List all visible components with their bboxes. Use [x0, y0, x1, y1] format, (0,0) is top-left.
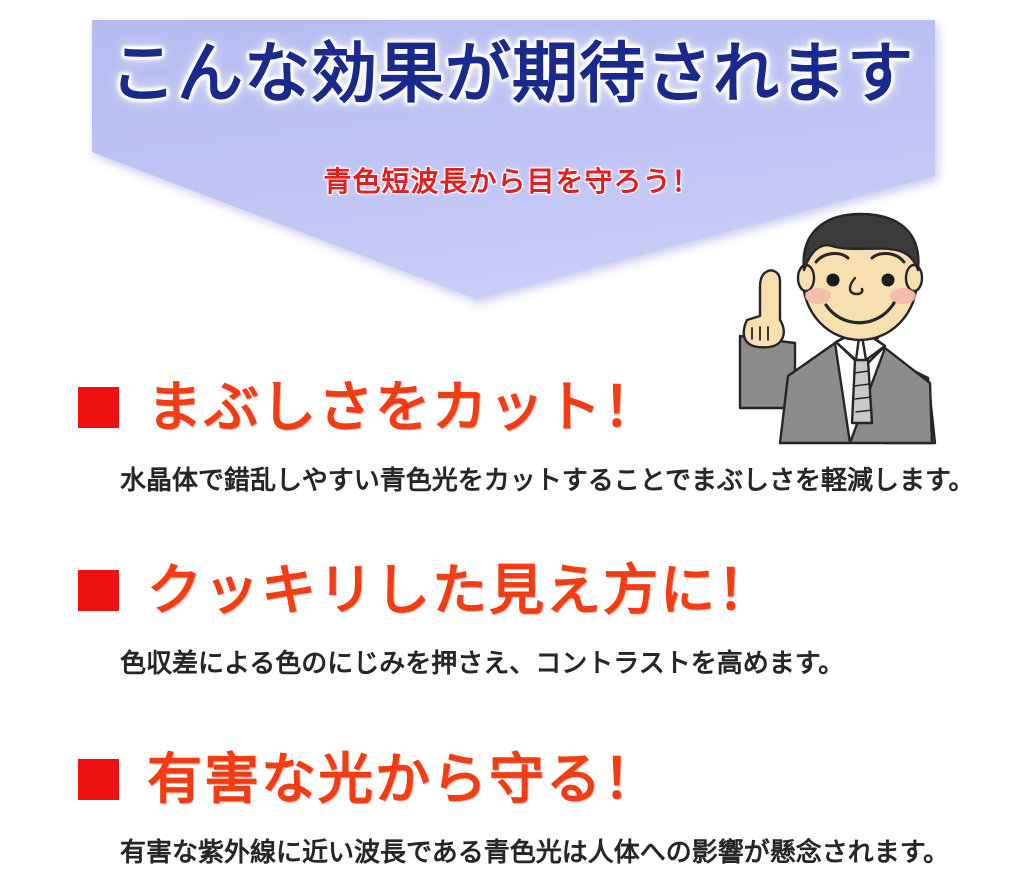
feature-title: 有害な光から守る！: [147, 752, 660, 807]
ear-left: [798, 265, 814, 291]
red-square-bullet-icon: [78, 387, 119, 428]
feature-headline-row: 有害な光から守る！: [0, 746, 1024, 812]
ear-right: [906, 265, 922, 291]
feature-description: 有害な紫外線に近い波長である青色光は人体への影響が懸念されます。: [0, 832, 1024, 869]
feature-block-1: まぶしさをカット！ 水晶体で錯乱しやすい青色光をカットすることでまぶしさを軽減し…: [0, 374, 1024, 497]
feature-title: まぶしさをカット！: [147, 380, 660, 435]
feature-block-2: クッキリした見え方に！ 色収差による色のにじみを押さえ、コントラストを高めます。: [0, 557, 1024, 680]
red-square-bullet-icon: [78, 759, 119, 800]
feature-description: 水晶体で錯乱しやすい青色光をカットすることでまぶしさを軽減します。: [0, 460, 1024, 497]
eye-right: [882, 274, 895, 287]
page-subtitle: 青色短波長から目を守ろう！: [0, 160, 1024, 200]
eye-left: [827, 274, 840, 287]
feature-block-3: 有害な光から守る！ 有害な紫外線に近い波長である青色光は人体への影響が懸念されま…: [0, 746, 1024, 869]
blush-left: [805, 288, 831, 304]
red-square-bullet-icon: [78, 570, 119, 611]
feature-description: 色収差による色のにじみを押さえ、コントラストを高めます。: [0, 643, 1024, 680]
page-title: こんな効果が期待されます: [0, 40, 1024, 107]
pointing-hand: [744, 270, 784, 347]
feature-headline-row: まぶしさをカット！: [0, 374, 1024, 440]
feature-headline-row: クッキリした見え方に！: [0, 557, 1024, 623]
feature-title: クッキリした見え方に！: [147, 563, 774, 618]
